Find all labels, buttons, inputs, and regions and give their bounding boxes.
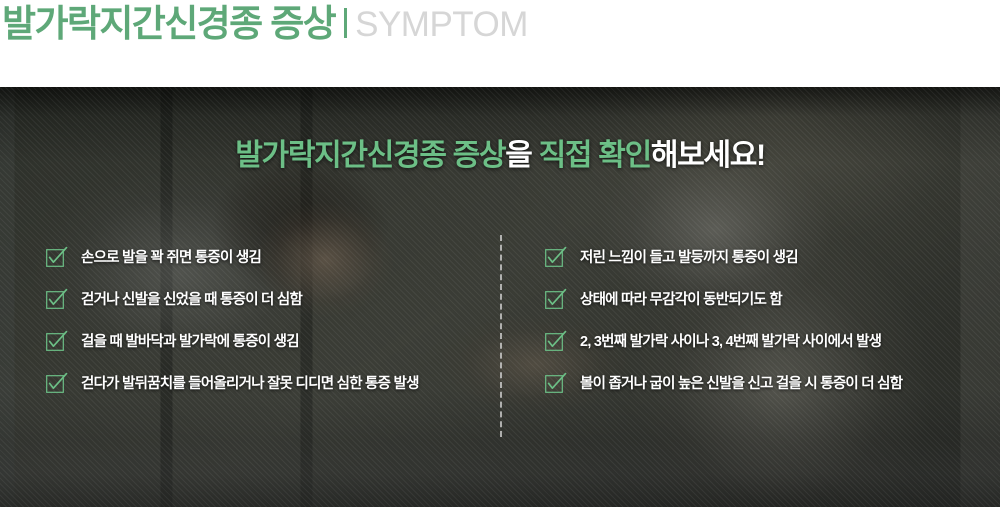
list-item: 걸을 때 발바닥과 발가락에 통증이 생김: [46, 332, 476, 353]
hero-content: 발가락지간신경종 증상을 직접 확인해보세요! 손으로 발을 꽉 쥐면 통증이 …: [0, 87, 1000, 507]
hero-heading: 발가락지간신경종 증상을 직접 확인해보세요!: [0, 137, 1000, 175]
page-title-english: SYMPTOM: [355, 3, 528, 47]
page-title-korean: 발가락지간신경종 증상: [2, 2, 335, 46]
page-title: 발가락지간신경종 증상 SYMPTOM: [2, 2, 528, 47]
list-item: 저린 느낌이 들고 발등까지 통증이 생김: [545, 248, 965, 269]
hero-banner: 발가락지간신경종 증상을 직접 확인해보세요! 손으로 발을 꽉 쥐면 통증이 …: [0, 87, 1000, 507]
checkbox-checked-icon: [46, 291, 64, 309]
list-item-label: 걷거나 신발을 신었을 때 통증이 더 심함: [81, 290, 302, 311]
hero-heading-part4: 해보세요!: [651, 139, 765, 172]
hero-heading-part1: 발가락지간신경종 증상: [235, 139, 505, 172]
list-item: 걷다가 발뒤꿈치를 들어올리거나 잘못 디디면 심한 통증 발생: [46, 374, 476, 395]
checkbox-checked-icon: [545, 291, 563, 309]
symptom-list-left: 손으로 발을 꽉 쥐면 통증이 생김 걷거나 신발을 신었을 때 통증이 더 심…: [46, 248, 476, 395]
list-item-label: 저린 느낌이 들고 발등까지 통증이 생김: [580, 248, 798, 269]
list-item: 걷거나 신발을 신었을 때 통증이 더 심함: [46, 290, 476, 311]
list-item-label: 손으로 발을 꽉 쥐면 통증이 생김: [81, 248, 261, 269]
list-item-label: 걸을 때 발바닥과 발가락에 통증이 생김: [81, 332, 299, 353]
list-item: 볼이 좁거나 굽이 높은 신발을 신고 걸을 시 통증이 더 심함: [545, 374, 965, 395]
symptom-list-right: 저린 느낌이 들고 발등까지 통증이 생김 상태에 따라 무감각이 동반되기도 …: [545, 248, 965, 395]
list-item-label: 2, 3번째 발가락 사이나 3, 4번째 발가락 사이에서 발생: [580, 332, 881, 353]
list-item-label: 상태에 따라 무감각이 동반되기도 함: [580, 290, 782, 311]
column-divider: [500, 235, 502, 437]
title-separator-bar: [344, 8, 347, 38]
checkbox-checked-icon: [545, 375, 563, 393]
footer-strip: [0, 507, 1000, 511]
page-header: 발가락지간신경종 증상 SYMPTOM: [0, 0, 1000, 87]
list-item: 2, 3번째 발가락 사이나 3, 4번째 발가락 사이에서 발생: [545, 332, 965, 353]
list-item: 손으로 발을 꽉 쥐면 통증이 생김: [46, 248, 476, 269]
list-item-label: 걷다가 발뒤꿈치를 들어올리거나 잘못 디디면 심한 통증 발생: [81, 374, 419, 395]
hero-heading-part2: 을: [505, 139, 531, 172]
checkbox-checked-icon: [46, 249, 64, 267]
symptom-section-page: 발가락지간신경종 증상 SYMPTOM 발가락지간신경종 증상을 직접 확인해보…: [0, 0, 1000, 511]
checkbox-checked-icon: [46, 375, 64, 393]
list-item: 상태에 따라 무감각이 동반되기도 함: [545, 290, 965, 311]
checkbox-checked-icon: [545, 249, 563, 267]
hero-heading-part3: 직접 확인: [532, 139, 651, 172]
checkbox-checked-icon: [545, 333, 563, 351]
checkbox-checked-icon: [46, 333, 64, 351]
list-item-label: 볼이 좁거나 굽이 높은 신발을 신고 걸을 시 통증이 더 심함: [580, 374, 902, 395]
